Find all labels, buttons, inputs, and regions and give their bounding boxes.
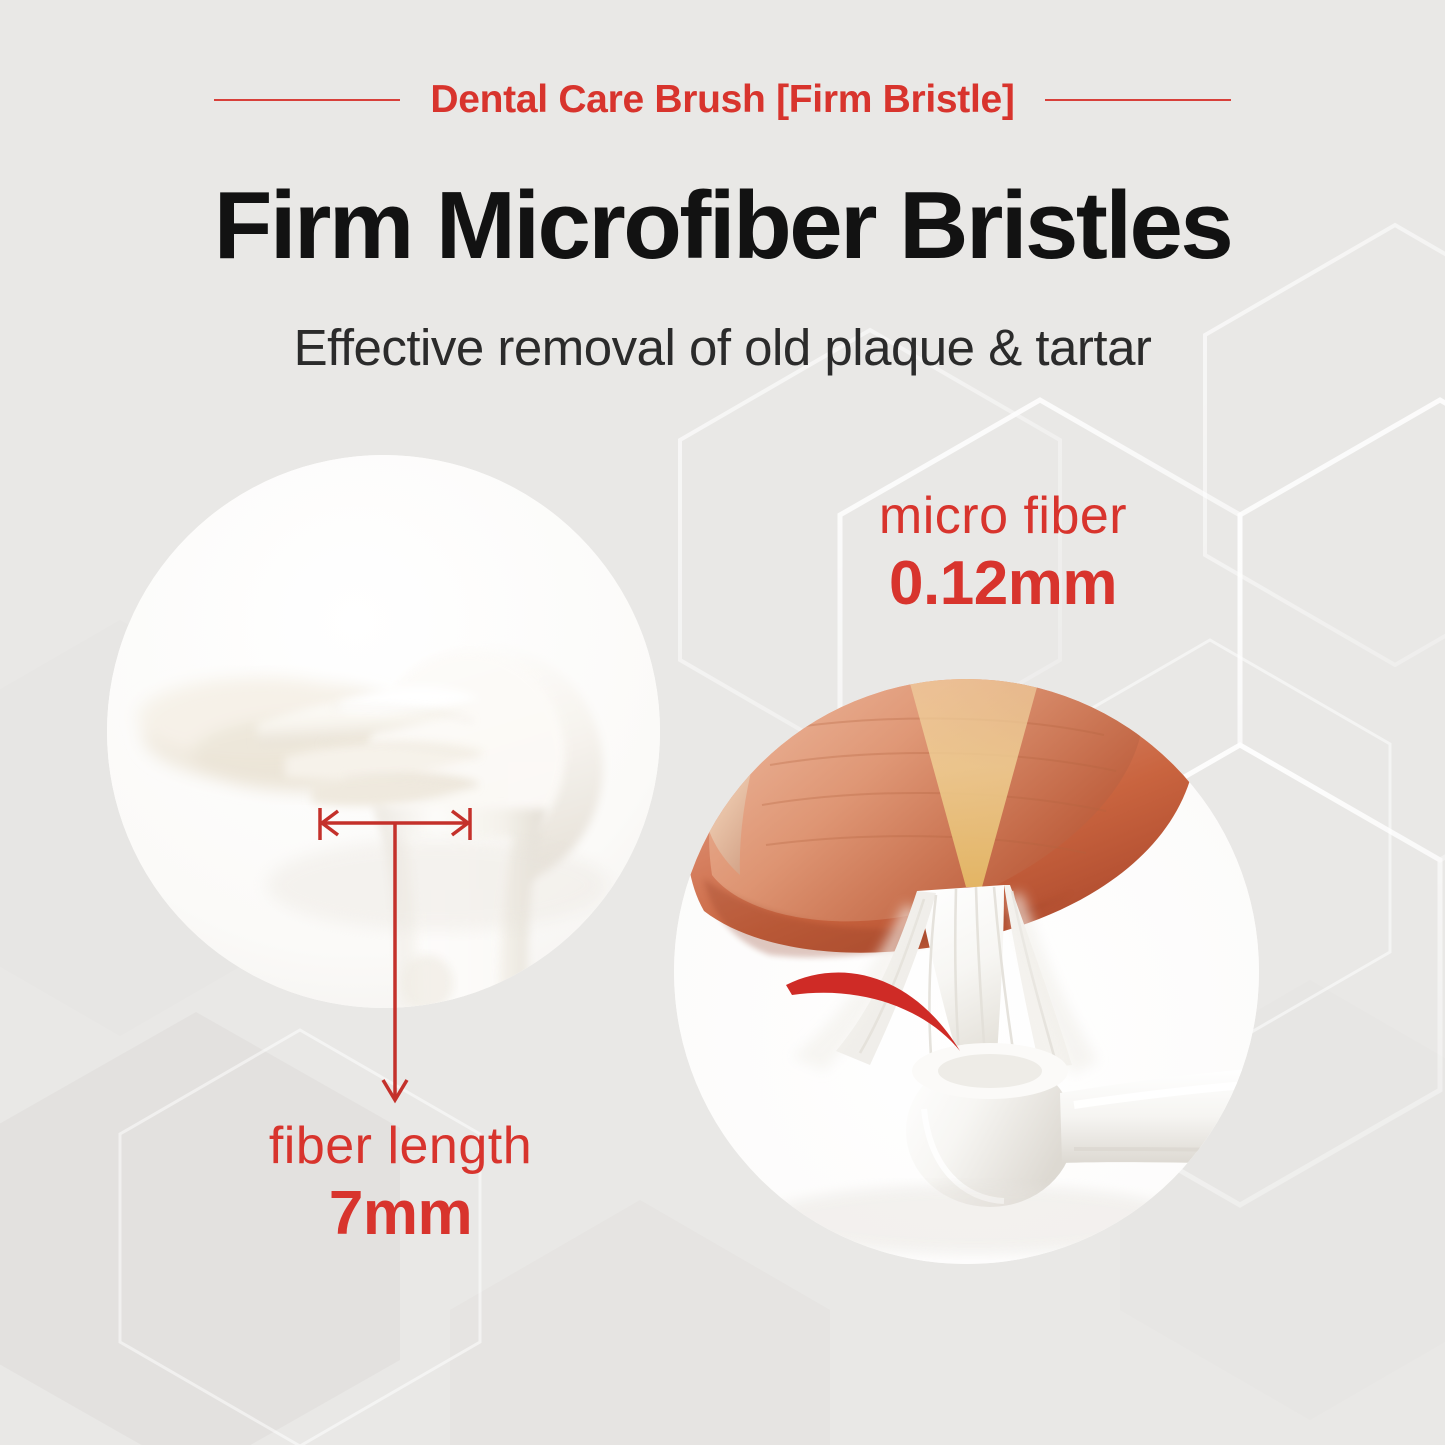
page-title: Firm Microfiber Bristles [0,176,1445,277]
micro-fiber-value: 0.12mm [838,545,1168,623]
micro-fiber-caption: micro fiber [838,488,1168,545]
brush-head-photo [107,455,660,1008]
fiber-length-value: 7mm [228,1175,573,1253]
micro-fiber-callout: micro fiber 0.12mm [838,488,1168,623]
page-subtitle: Effective removal of old plaque & tartar [0,318,1445,377]
brush-head-illustration [107,455,660,1008]
eyebrow-row: Dental Care Brush [Firm Bristle] [0,72,1445,128]
eyebrow-rule-right [1045,99,1231,101]
product-infographic: Dental Care Brush [Firm Bristle] Firm Mi… [0,0,1445,1445]
fingertip-bristle-photo [674,679,1259,1264]
dimension-arrowhead-down [383,1080,407,1100]
fiber-length-callout: fiber length 7mm [228,1118,573,1253]
eyebrow-label: Dental Care Brush [Firm Bristle] [430,78,1014,122]
fingertip-illustration [674,679,1259,1264]
bristle-ferrule [906,1043,1074,1207]
fiber-length-caption: fiber length [228,1118,573,1175]
eyebrow-rule-left [214,99,400,101]
